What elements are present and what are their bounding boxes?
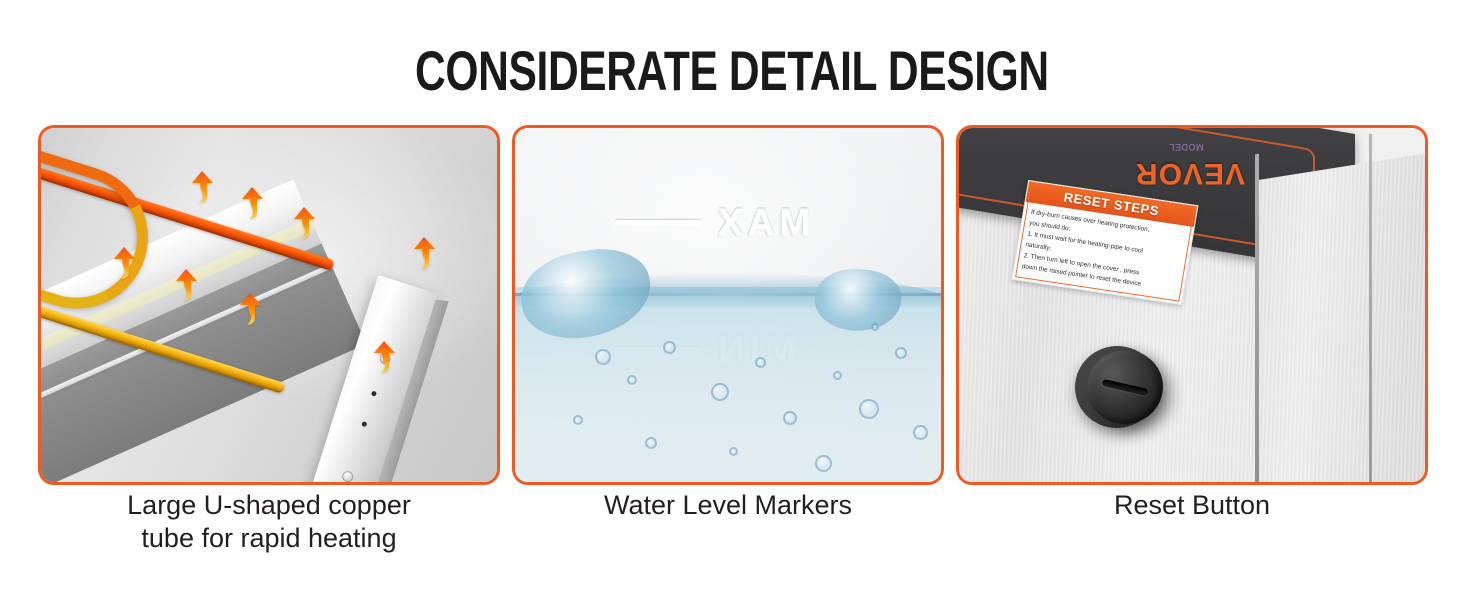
- plate-hole-icon: [371, 391, 377, 397]
- heat-arrow-icon: [173, 268, 199, 302]
- water-body: [515, 287, 941, 482]
- bubble-icon: [729, 447, 738, 456]
- mounting-screw-icon: [341, 470, 355, 482]
- plate-hole-icon: [361, 421, 367, 427]
- page-title-bar: CONSIDERATE DETAIL DESIGN: [0, 42, 1464, 100]
- heat-arrow-icon: [411, 236, 437, 270]
- bubble-icon: [895, 347, 907, 359]
- caption-reset-button: Reset Button: [956, 489, 1428, 522]
- bubble-icon: [833, 371, 842, 380]
- reset-knob-slot-icon: [1102, 379, 1148, 396]
- heat-arrow-icon: [189, 170, 215, 204]
- reset-button-photo: MODEL VEVOR RESET STEPS If dry-burn caus…: [959, 128, 1425, 482]
- appliance-far-edge: [1369, 134, 1372, 482]
- bubble-icon: [783, 411, 797, 425]
- appliance-front-face: [1259, 148, 1425, 482]
- heating-tube-photo: [41, 128, 497, 482]
- bubble-icon: [859, 399, 879, 419]
- caption-line: Reset Button: [956, 489, 1428, 522]
- page-title: CONSIDERATE DETAIL DESIGN: [415, 42, 1049, 100]
- bubble-icon: [573, 415, 583, 425]
- caption-line: Large U-shaped copper: [38, 489, 500, 522]
- heat-arrow-icon: [371, 340, 397, 374]
- heat-arrow-icon: [291, 206, 317, 240]
- heat-arrow-icon: [111, 246, 137, 280]
- heat-arrow-icon: [239, 186, 265, 220]
- caption-line: Water Level Markers: [512, 489, 944, 522]
- bubble-icon: [645, 437, 657, 449]
- max-marker-dash: [615, 220, 701, 224]
- heat-arrow-icon: [237, 292, 263, 326]
- bubble-icon: [627, 375, 637, 385]
- bubble-icon: [913, 425, 928, 440]
- caption-row: Large U-shaped copper tube for rapid hea…: [0, 485, 1464, 600]
- max-marker-label: MAX: [713, 201, 810, 243]
- feature-panel-reset-button: MODEL VEVOR RESET STEPS If dry-burn caus…: [956, 125, 1428, 485]
- bubble-icon: [595, 349, 611, 365]
- bubble-icon: [815, 455, 832, 472]
- brand-subtext: MODEL: [1169, 142, 1204, 152]
- water-level-photo: MAX MIN: [515, 128, 941, 482]
- caption-heating-tube: Large U-shaped copper tube for rapid hea…: [38, 489, 500, 555]
- bubble-icon: [755, 357, 766, 368]
- caption-line: tube for rapid heating: [38, 522, 500, 555]
- feature-panel-row: MAX MIN: [0, 125, 1464, 485]
- bubble-icon: [871, 323, 879, 331]
- bubble-icon: [663, 341, 676, 354]
- feature-panel-water-level: MAX MIN: [512, 125, 944, 485]
- caption-water-level: Water Level Markers: [512, 489, 944, 522]
- feature-panel-heating-tube: [38, 125, 500, 485]
- bubble-icon: [711, 383, 729, 401]
- brand-logo: VEVOR: [1135, 156, 1245, 190]
